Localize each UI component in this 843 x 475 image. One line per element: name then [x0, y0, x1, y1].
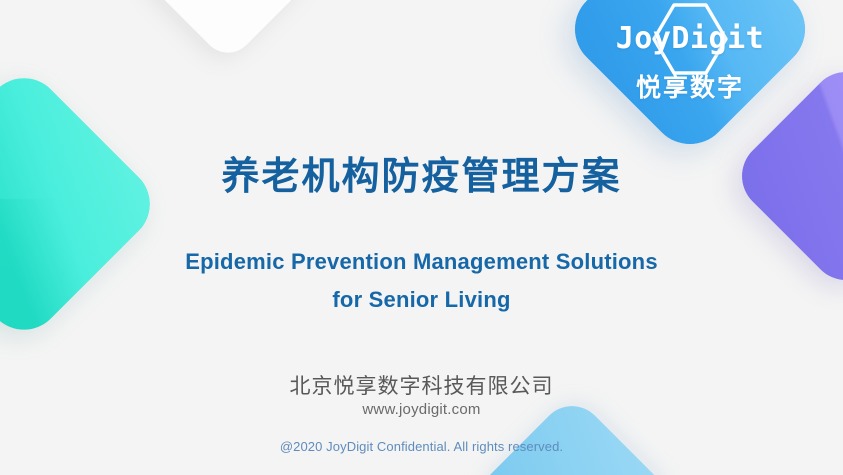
company-name: 北京悦享数字科技有限公司 [0, 370, 843, 400]
company-website[interactable]: www.joydigit.com [0, 401, 843, 418]
slide-content: 养老机构防疫管理方案 Epidemic Prevention Managemen… [0, 0, 843, 475]
subtitle-line-1: Epidemic Prevention Management Solutions [0, 243, 843, 281]
subtitle-english: Epidemic Prevention Management Solutions… [0, 243, 843, 319]
copyright-notice: @2020 JoyDigit Confidential. All rights … [0, 439, 843, 454]
subtitle-line-2: for Senior Living [0, 281, 843, 319]
page-title: 养老机构防疫管理方案 [0, 155, 843, 201]
title-slide: JoyDigit 悦享数字 养老机构防疫管理方案 Epidemic Preven… [0, 0, 843, 475]
